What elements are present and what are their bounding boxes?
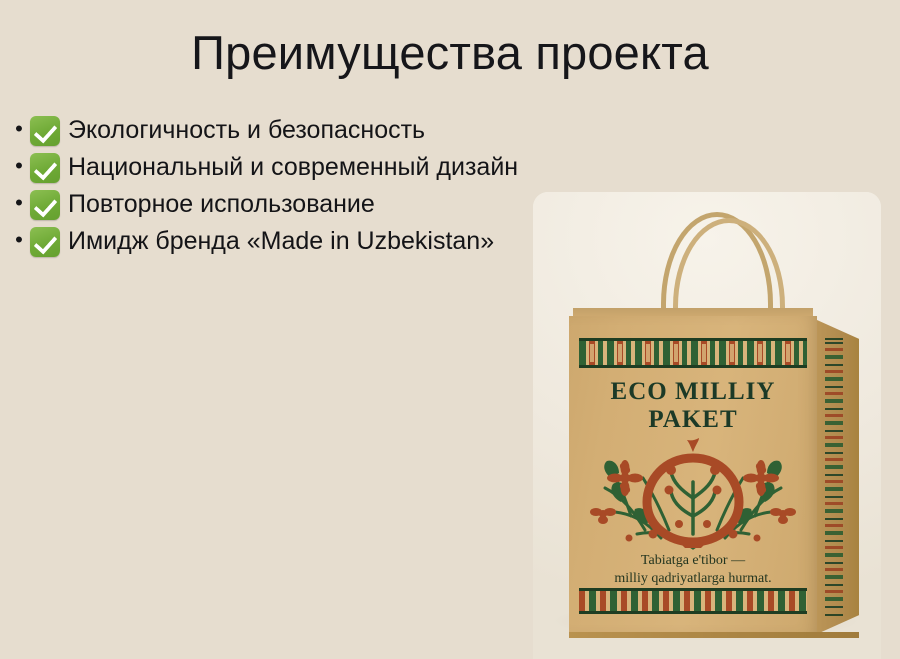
list-item-label: Экологичность и безопасность [68,117,425,145]
slide: Преимущества проекта • Экологичность и б… [0,0,900,659]
list-item-label: Повторное использование [68,191,375,219]
check-mark-button-icon [30,153,60,183]
check-mark-button-icon [30,190,60,220]
side-ornament-strip [825,342,843,612]
bag-side-gusset [817,320,859,634]
list-item: • Национальный и современный дизайн [8,151,568,185]
bag-slogan: Tabiatga e'tibor — milliy qadriyatlarga … [583,552,803,587]
bag-headline-line-2: PAKET [648,406,737,433]
list-item: • Имидж бренда «Made in Uzbekistan» [8,225,568,259]
bag-headline-line-1: ECO MILLIY [611,378,776,405]
check-mark-button-icon [30,227,60,257]
list-item: • Повторное использование [8,188,568,222]
bag-front-panel: ECO MILLIY PAKET [569,316,817,634]
list-item-label: Имидж бренда «Made in Uzbekistan» [68,228,494,256]
page-title: Преимущества проекта [0,26,900,80]
bag-base-edge [569,632,859,638]
bag-headline: ECO MILLIY PAKET [581,378,805,434]
bullet-marker: • [8,192,30,214]
pomegranate-floral-motif-icon [581,438,805,554]
bullet-marker: • [8,118,30,140]
ornamental-border-bottom [579,588,807,614]
bullet-marker: • [8,155,30,177]
bag-slogan-line-1: Tabiatga e'tibor — [641,553,745,568]
bullet-marker: • [8,229,30,251]
paper-bag: ECO MILLIY PAKET [557,208,861,644]
list-item-label: Национальный и современный дизайн [68,154,518,182]
list-item: • Экологичность и безопасность [8,114,568,148]
bag-slogan-line-2: milliy qadriyatlarga hurmat. [583,570,803,588]
ornamental-border-top [579,338,807,368]
bag-front-artwork: ECO MILLIY PAKET [569,316,817,634]
check-mark-button-icon [30,116,60,146]
benefits-list: • Экологичность и безопасность • Национа… [8,114,568,262]
eco-paper-bag-photo: ECO MILLIY PAKET [533,192,881,659]
